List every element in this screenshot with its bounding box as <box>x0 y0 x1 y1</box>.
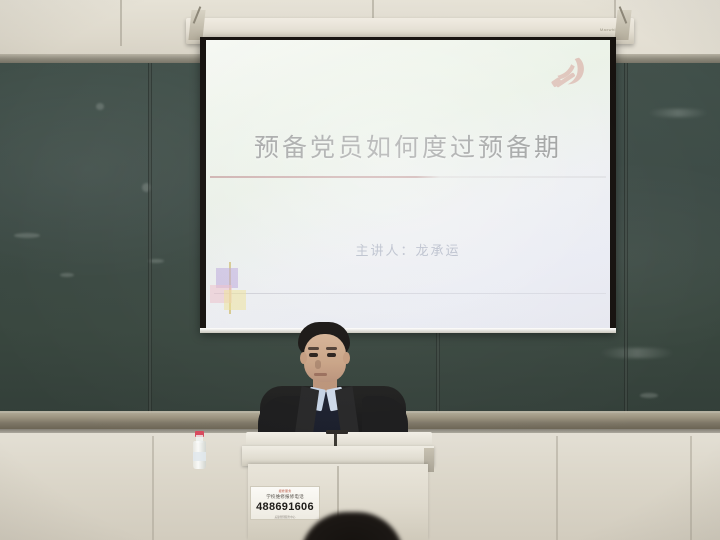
speaker-eye-right <box>327 353 336 357</box>
slide-title: 预备党员如何度过预备期 <box>206 128 610 164</box>
podium-front-panel-top <box>242 446 434 466</box>
speaker-eye-left <box>309 353 318 357</box>
sticker-header-text: 报修服务 <box>251 489 319 493</box>
lower-wall-seam <box>556 436 558 540</box>
speaker-ear-left <box>300 352 307 364</box>
speaker-eyebrow-left <box>308 347 319 350</box>
lower-wall-seam <box>152 436 154 540</box>
slide-decor-square-yellow <box>224 290 246 310</box>
slide-subtitle: 主讲人：龙承运 <box>206 240 610 259</box>
slide-divider-top <box>210 176 606 178</box>
sticker-footer-text: 后勤管理服务中心 <box>251 515 319 519</box>
sticker-phone-number: 488691606 <box>251 501 319 513</box>
speaker-nose <box>315 360 321 369</box>
chalkboard-panel-seam <box>624 63 628 415</box>
lecture-hall-photo: Maxwhite 预备党员如何度过预备期 主讲人：龙承运 <box>0 0 720 540</box>
cpc-hammer-sickle-emblem <box>546 52 592 98</box>
desk-microphone-base <box>326 430 348 434</box>
lower-wall-seam <box>690 436 692 540</box>
speaker-ear-right <box>343 352 350 364</box>
wall-seam <box>120 0 122 46</box>
chalkboard-panel-seam <box>148 63 152 415</box>
speaker-eyebrow-right <box>326 347 337 350</box>
projection-screen: 预备党员如何度过预备期 主讲人：龙承运 <box>206 40 610 328</box>
speaker-mouth <box>314 373 327 376</box>
slide-divider-bottom <box>214 293 606 294</box>
water-bottle-label <box>193 452 206 461</box>
sticker-subtext: 学校维修报修电话 <box>251 494 319 500</box>
repair-hotline-sticker: 报修服务 学校维修报修电话 488691606 后勤管理服务中心 <box>250 486 320 520</box>
